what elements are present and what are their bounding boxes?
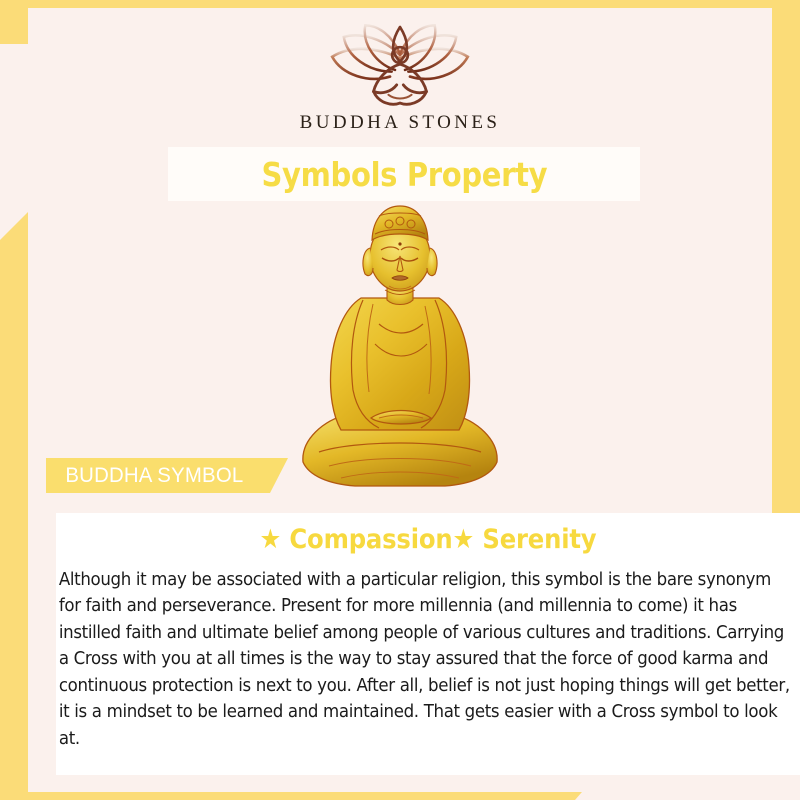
golden-seated-buddha-statue-icon <box>275 204 525 504</box>
title-banner: Symbols Property <box>168 147 640 201</box>
brand-name: BUDDHA STONES <box>300 112 501 134</box>
poster-root: BUDDHA STONES Symbols Property <box>0 0 800 800</box>
content-panel: ★ Compassion★ Serenity Although it may b… <box>56 513 800 775</box>
page-title: Symbols Property <box>261 155 547 194</box>
lotus-meditation-figure-icon <box>316 22 484 108</box>
keywords-heading: ★ Compassion★ Serenity <box>93 513 763 555</box>
buddha-symbol-ribbon: BUDDHA SYMBOL <box>46 458 288 493</box>
description-paragraph: Although it may be associated with a par… <box>56 555 800 752</box>
brand-logo: BUDDHA STONES <box>28 22 772 134</box>
ribbon-label: BUDDHA SYMBOL <box>46 464 243 488</box>
poster-card: BUDDHA STONES Symbols Property <box>28 8 772 792</box>
